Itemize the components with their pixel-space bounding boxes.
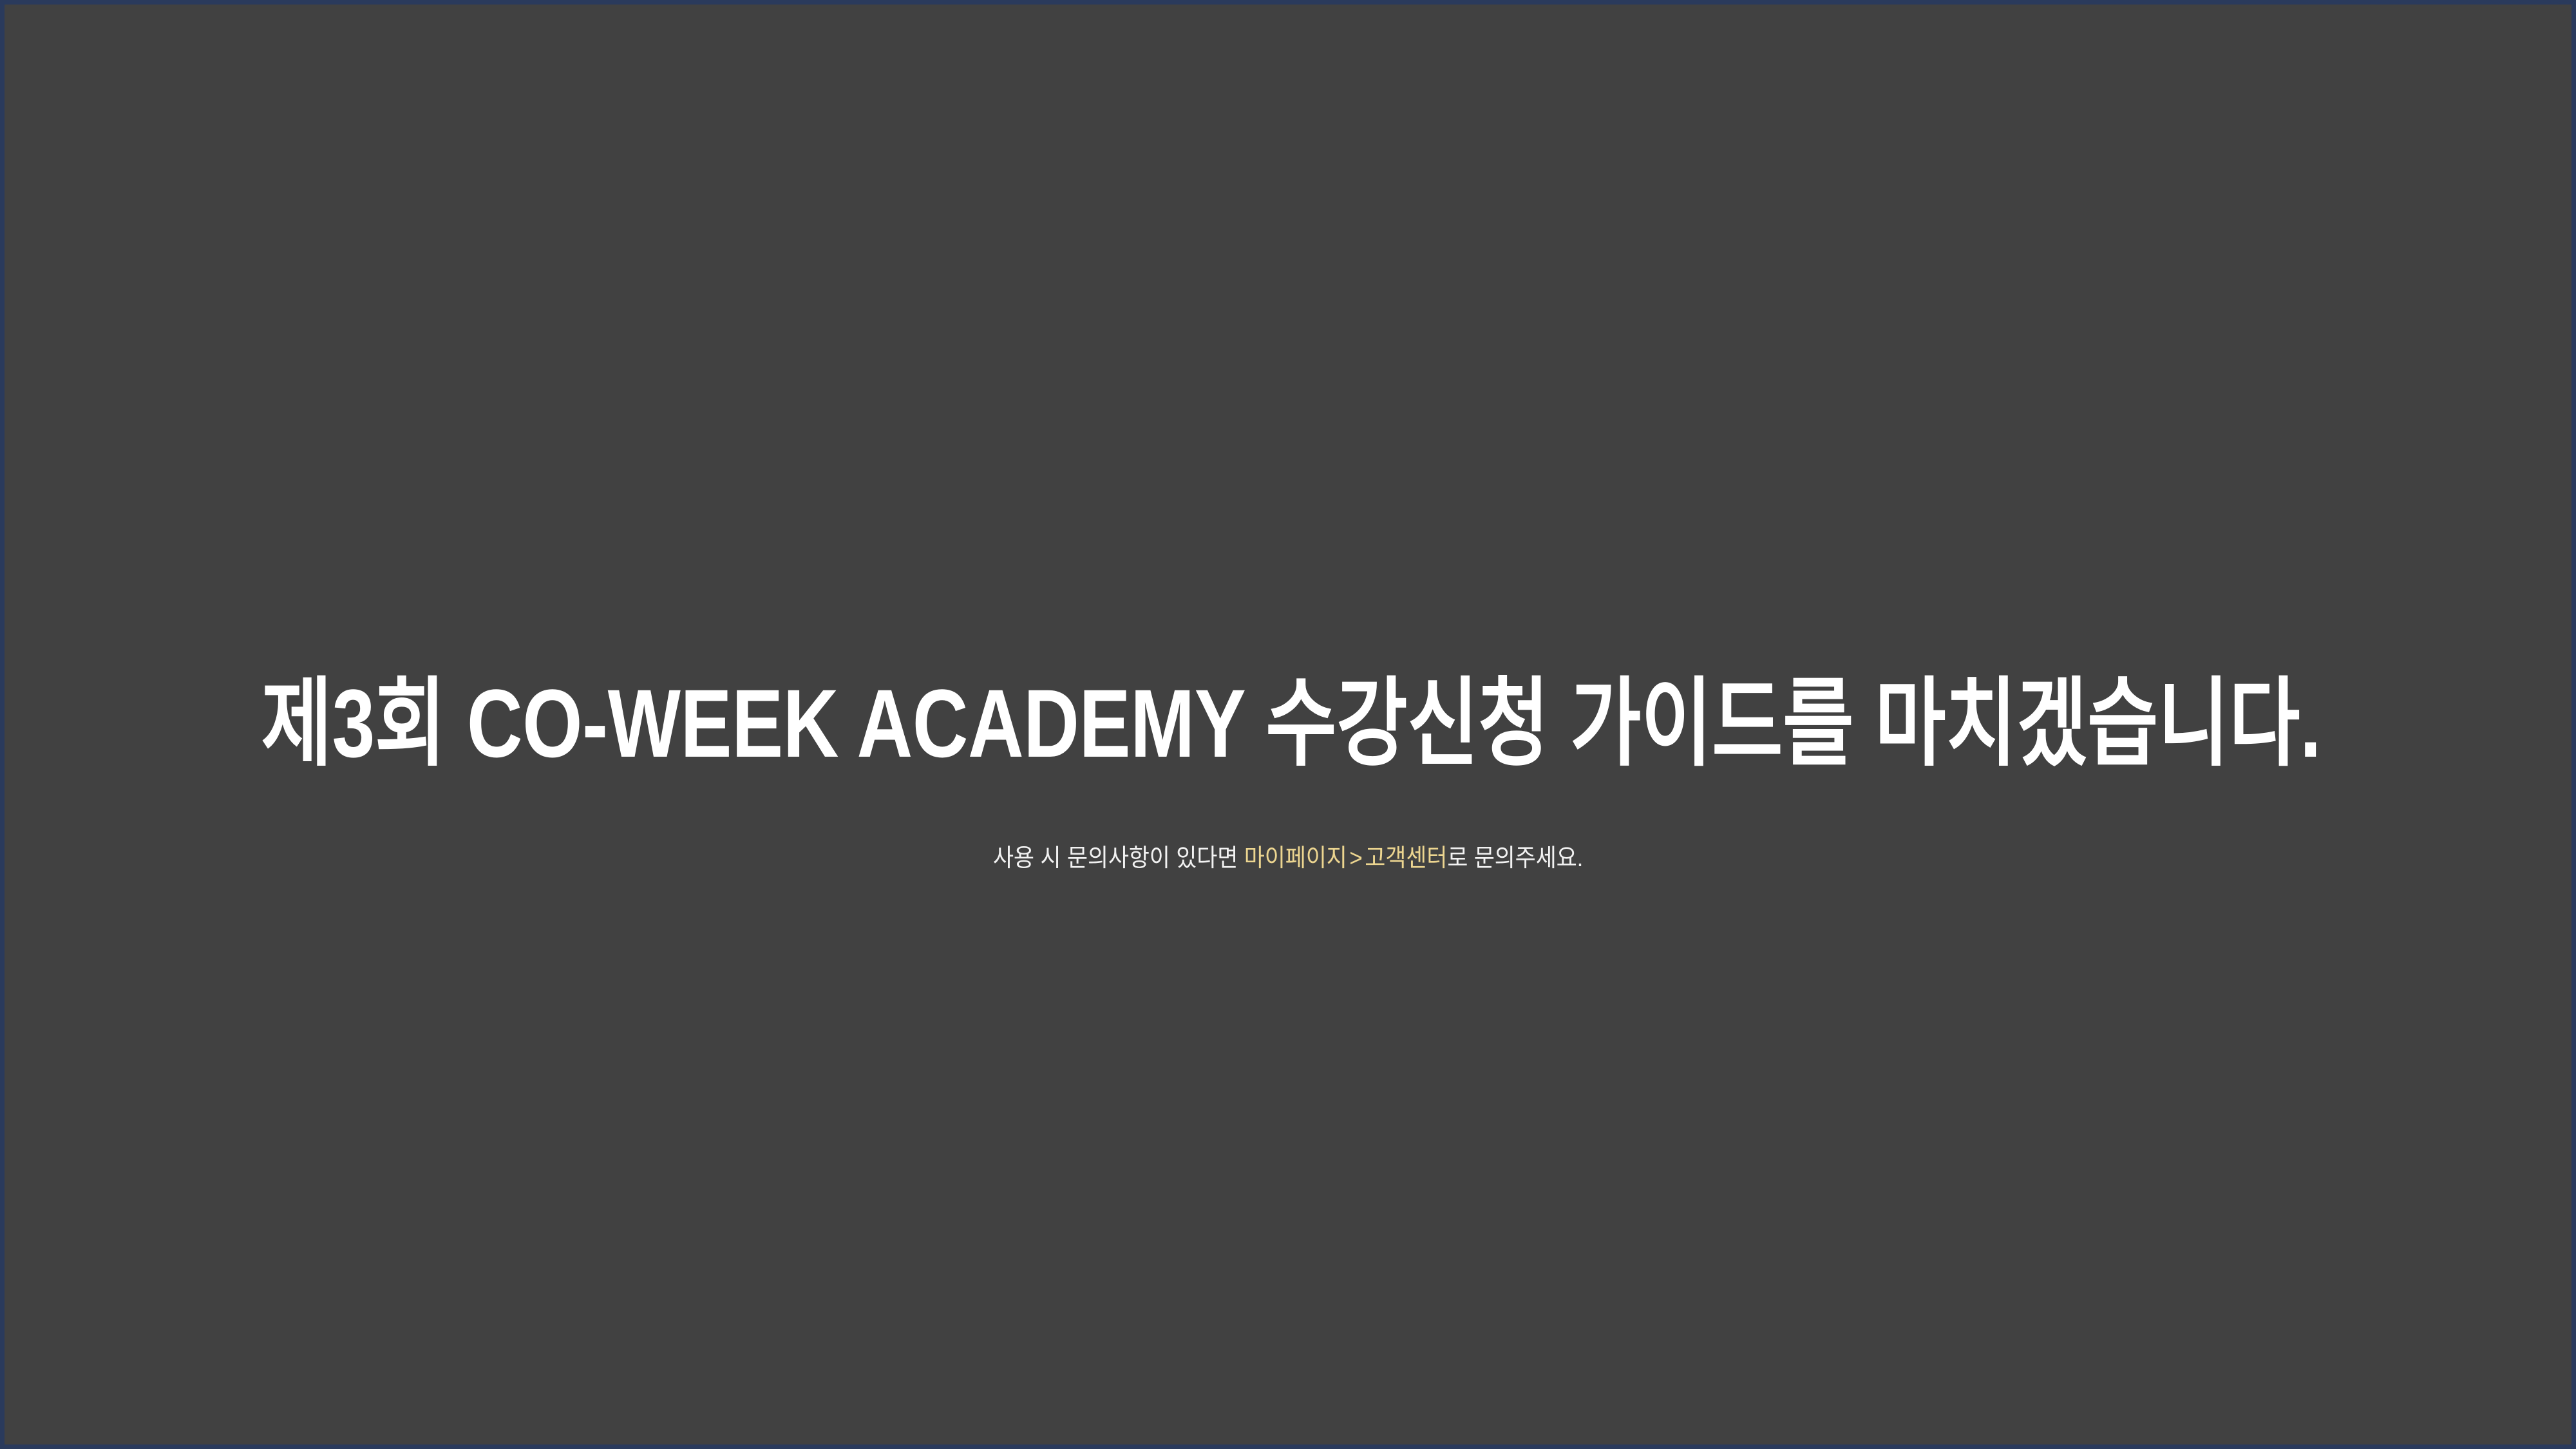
closing-slide: 제3회 CO-WEEK ACADEMY 수강신청 가이드를 마치겠습니다. 사용… — [0, 0, 2576, 1449]
customer-center-link[interactable]: 고객센터 — [1365, 845, 1447, 872]
support-notice-trail: 로 문의주세요. — [1447, 845, 1583, 872]
support-notice-lead: 사용 시 문의사항이 있다면 — [993, 845, 1244, 872]
support-notice: 사용 시 문의사항이 있다면 마이페이지>고객센터로 문의주세요. — [107, 843, 2468, 875]
mypage-link[interactable]: 마이페이지 — [1244, 845, 1347, 872]
breadcrumb-separator-icon: > — [1347, 845, 1365, 872]
page-title: 제3회 CO-WEEK ACADEMY 수강신청 가이드를 마치겠습니다. — [261, 671, 2315, 775]
slide-content: 제3회 CO-WEEK ACADEMY 수강신청 가이드를 마치겠습니다. 사용… — [5, 671, 2571, 875]
